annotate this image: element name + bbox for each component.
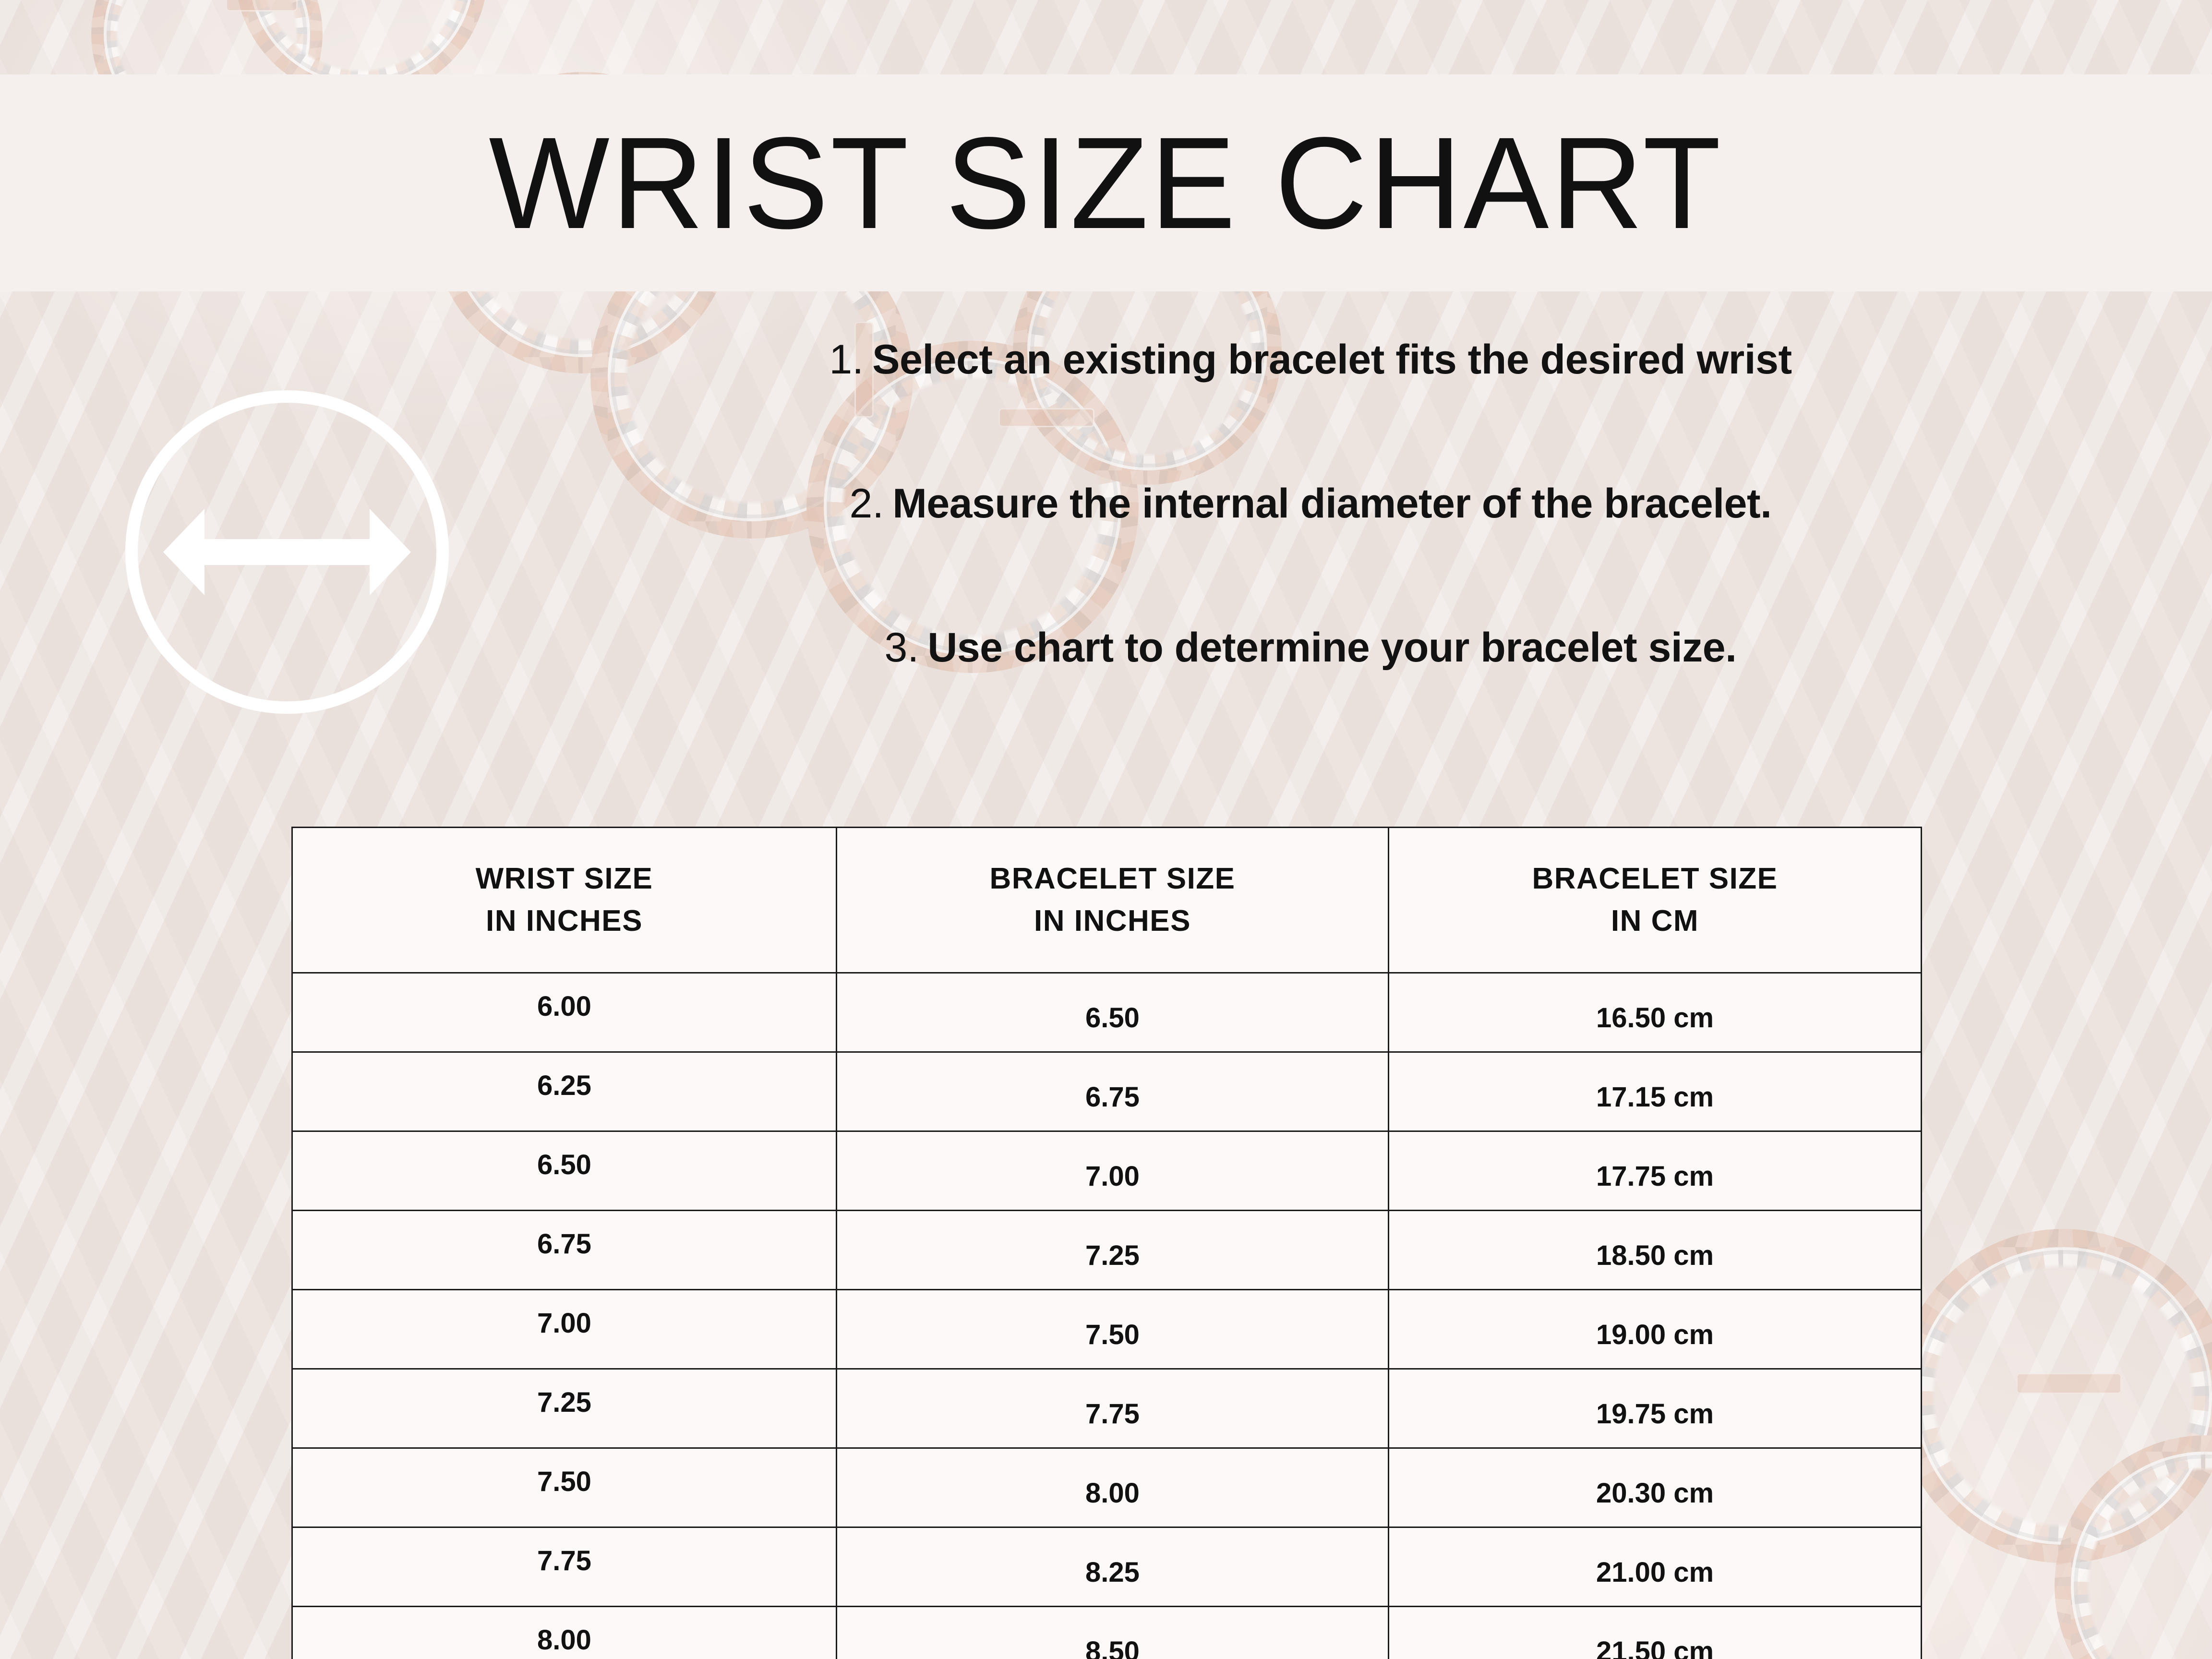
table-row: 6.757.2518.50 cm <box>292 1211 1922 1290</box>
table-row: 7.508.0020.30 cm <box>292 1448 1922 1527</box>
measure-width-icon <box>119 384 455 720</box>
table-row: 6.256.7517.15 cm <box>292 1052 1922 1131</box>
instruction-item-3: 3. Use chart to determine your bracelet … <box>480 624 2141 768</box>
column-header-line1: BRACELET SIZE <box>837 858 1388 900</box>
page-title: WRIST SIZE CHART <box>489 118 1723 248</box>
instruction-item-2: 2. Measure the internal diameter of the … <box>480 480 2141 624</box>
table-row: 8.008.5021.50 cm <box>292 1607 1922 1659</box>
table-cell-bracelet-cm: 16.50 cm <box>1389 973 1922 1052</box>
table-cell-bracelet-cm: 19.75 cm <box>1389 1369 1922 1448</box>
instruction-number: 3. <box>884 624 919 672</box>
column-header-line1: BRACELET SIZE <box>1389 858 1921 900</box>
table-cell-wrist-inches: 7.75 <box>292 1527 837 1607</box>
table-cell-wrist-inches: 6.25 <box>292 1052 837 1131</box>
table-row: 6.006.5016.50 cm <box>292 973 1922 1052</box>
column-header-line2: IN INCHES <box>837 900 1388 942</box>
table-cell-bracelet-inches: 7.50 <box>837 1290 1389 1369</box>
table-cell-bracelet-cm: 17.75 cm <box>1389 1131 1922 1211</box>
instruction-item-1: 1. Select an existing bracelet fits the … <box>480 336 2141 480</box>
table-cell-wrist-inches: 7.25 <box>292 1369 837 1448</box>
instruction-number: 1. <box>829 336 864 384</box>
table-cell-bracelet-cm: 19.00 cm <box>1389 1290 1922 1369</box>
table-cell-wrist-inches: 6.00 <box>292 973 837 1052</box>
instruction-text: Measure the internal diameter of the bra… <box>892 480 1771 528</box>
table-cell-bracelet-inches: 7.00 <box>837 1131 1389 1211</box>
column-header-wrist-inches: WRIST SIZE IN INCHES <box>292 828 837 973</box>
table-header-row: WRIST SIZE IN INCHES BRACELET SIZE IN IN… <box>292 828 1922 973</box>
table-cell-bracelet-inches: 8.25 <box>837 1527 1389 1607</box>
instruction-number: 2. <box>849 480 884 528</box>
table-cell-bracelet-cm: 21.00 cm <box>1389 1527 1922 1607</box>
column-header-line2: IN CM <box>1389 900 1921 942</box>
table-cell-bracelet-inches: 7.25 <box>837 1211 1389 1290</box>
table-cell-bracelet-inches: 8.00 <box>837 1448 1389 1527</box>
table-cell-bracelet-cm: 18.50 cm <box>1389 1211 1922 1290</box>
page-root: WRIST SIZE CHART 1. Select an existing b… <box>0 0 2212 1659</box>
column-header-line1: WRIST SIZE <box>293 858 836 900</box>
table-cell-bracelet-cm: 21.50 cm <box>1389 1607 1922 1659</box>
decor-chain-links-bottom-right <box>1896 1229 2212 1659</box>
instructions-list: 1. Select an existing bracelet fits the … <box>480 336 2141 768</box>
table-row: 7.758.2521.00 cm <box>292 1527 1922 1607</box>
column-header-bracelet-inches: BRACELET SIZE IN INCHES <box>837 828 1389 973</box>
header-band: WRIST SIZE CHART <box>0 74 2212 291</box>
table-row: 7.007.5019.00 cm <box>292 1290 1922 1369</box>
table-cell-bracelet-inches: 8.50 <box>837 1607 1389 1659</box>
instruction-text: Select an existing bracelet fits the des… <box>872 336 1791 384</box>
table-cell-bracelet-cm: 20.30 cm <box>1389 1448 1922 1527</box>
table-cell-wrist-inches: 6.75 <box>292 1211 837 1290</box>
table-cell-wrist-inches: 7.50 <box>292 1448 837 1527</box>
table-cell-bracelet-inches: 6.75 <box>837 1052 1389 1131</box>
table-cell-wrist-inches: 7.00 <box>292 1290 837 1369</box>
instruction-text: Use chart to determine your bracelet siz… <box>927 624 1736 672</box>
table-cell-bracelet-inches: 7.75 <box>837 1369 1389 1448</box>
table-cell-bracelet-inches: 6.50 <box>837 973 1389 1052</box>
wrist-size-table: WRIST SIZE IN INCHES BRACELET SIZE IN IN… <box>291 827 1922 1659</box>
table-cell-wrist-inches: 6.50 <box>292 1131 837 1211</box>
decor-chain-clasp <box>2016 1373 2122 1394</box>
double-arrow-icon <box>163 509 411 595</box>
table-body: 6.006.5016.50 cm6.256.7517.15 cm6.507.00… <box>292 973 1922 1659</box>
column-header-line2: IN INCHES <box>293 900 836 942</box>
table-row: 6.507.0017.75 cm <box>292 1131 1922 1211</box>
column-header-bracelet-cm: BRACELET SIZE IN CM <box>1389 828 1922 973</box>
decor-chain-clasp <box>226 0 298 12</box>
table-row: 7.257.7519.75 cm <box>292 1369 1922 1448</box>
table-cell-wrist-inches: 8.00 <box>292 1607 837 1659</box>
table-header: WRIST SIZE IN INCHES BRACELET SIZE IN IN… <box>292 828 1922 973</box>
table-cell-bracelet-cm: 17.15 cm <box>1389 1052 1922 1131</box>
